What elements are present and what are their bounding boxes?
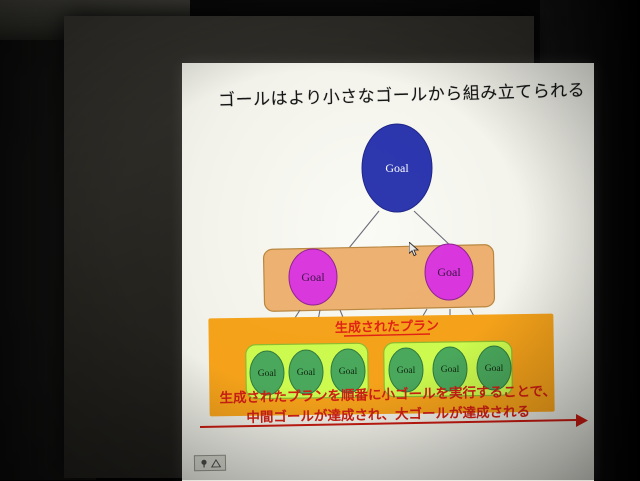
projection-screen-frame: ゴールはより小さなゴールから組み立てられる <box>64 16 534 478</box>
goal-node-mid-left-label: Goal <box>301 270 325 284</box>
generated-plan-label: 生成されたプラン <box>335 318 439 335</box>
goal-node-leaf-label: Goal <box>258 369 277 379</box>
projection-room: ゴールはより小さなゴールから組み立てられる <box>0 0 640 480</box>
connector-line <box>414 211 454 249</box>
pointer-icon <box>199 459 208 468</box>
goal-node-leaf-label: Goal <box>339 367 358 377</box>
goal-node-top-label: Goal <box>385 161 409 175</box>
goal-node-leaf-label: Goal <box>297 368 316 378</box>
goal-node-leaf-label: Goal <box>441 365 460 375</box>
connector-line <box>349 211 379 248</box>
goal-node-leaf-label: Goal <box>397 366 416 376</box>
goal-node-mid-right-label: Goal <box>437 265 461 279</box>
mouse-cursor-icon <box>409 242 420 257</box>
connectors-top-to-middle <box>349 211 454 249</box>
triangle-icon <box>210 458 220 467</box>
goal-node-leaf-label: Goal <box>485 364 504 374</box>
presentation-slide[interactable]: ゴールはより小さなゴールから組み立てられる <box>182 63 594 481</box>
slideshow-navigation-button[interactable] <box>194 455 226 472</box>
